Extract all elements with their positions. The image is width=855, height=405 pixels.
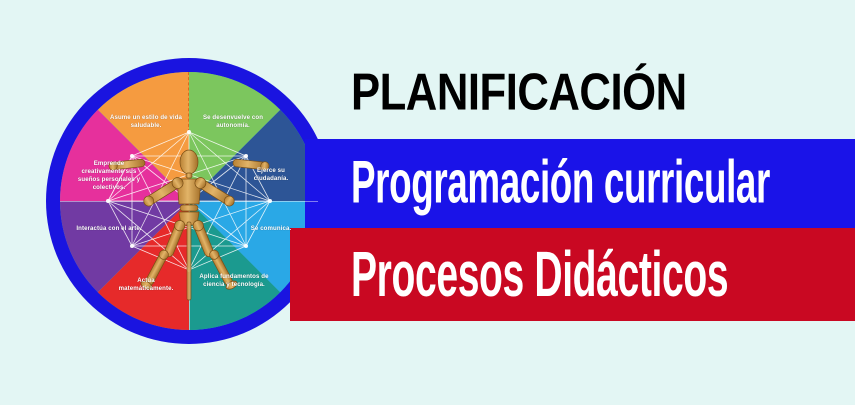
page-title: PLANIFICACIÓN — [351, 62, 687, 122]
banner-programacion-curricular[interactable]: Programación curricular — [305, 139, 855, 228]
banner-red-label: Procesos Didácticos — [351, 238, 728, 311]
wheel-inner-disc: Asume un estilo de vida saludable. Se de… — [60, 72, 318, 330]
banner-procesos-didacticos[interactable]: Procesos Didácticos — [290, 228, 855, 321]
wheel-dashed-divider — [188, 72, 189, 132]
banner-blue-label: Programación curricular — [351, 150, 770, 218]
poster-canvas: Asume un estilo de vida saludable. Se de… — [0, 0, 855, 405]
wheel-vertical-divider — [189, 201, 190, 330]
